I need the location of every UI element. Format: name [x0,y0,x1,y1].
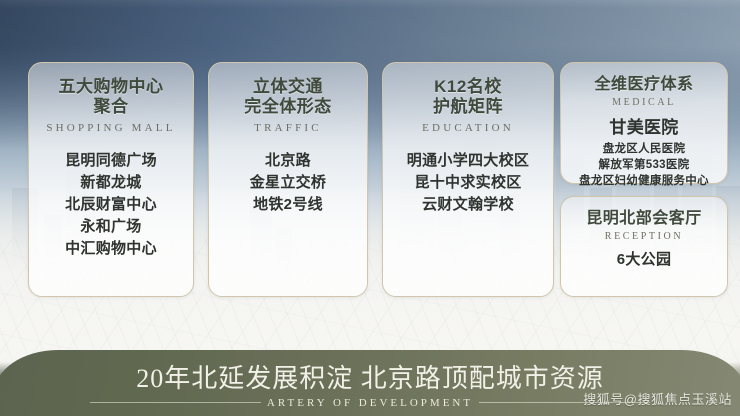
list-item: 中汇购物中心 [29,238,193,260]
card-reception-list: 6大公园 [561,249,727,271]
list-item: 盘龙区妇幼健康服务中心 [561,173,727,189]
card-medical-list: 甘美医院 盘龙区人民医院 解放军第533医院 盘龙区妇幼健康服务中心 [561,115,727,189]
list-item: 盘龙区人民医院 [561,141,727,157]
card-traffic-title-line2: 完全体形态 [209,97,367,117]
card-traffic-title-line1: 立体交通 [209,77,367,97]
watermark: 搜狐号@搜狐焦点玉溪站 [583,389,732,408]
card-education-title-line2: 护航矩阵 [383,97,553,117]
bottom-banner: 20年北延发展积淀 北京路顶配城市资源 ARTERY OF DEVELOPMEN… [0,350,740,416]
list-item: 6大公园 [561,249,727,271]
banner-rule-left [90,402,261,403]
banner-subtitle: ARTERY OF DEVELOPMENT [261,397,479,409]
card-medical-subtitle: MEDICAL [561,97,727,108]
banner-title: 20年北延发展积淀 北京路顶配城市资源 [136,364,604,394]
list-item: 永和广场 [29,216,193,238]
card-medical-title-line1: 全维医疗体系 [561,75,727,94]
card-reception-subtitle: RECEPTION [561,231,727,242]
card-shopping[interactable]: 五大购物中心 聚合 SHOPPING MALL 昆明同德广场 新都龙城 北辰财富… [28,62,194,297]
card-reception-title-line1: 昆明北部会客厅 [561,209,727,228]
feature-card-group: 五大购物中心 聚合 SHOPPING MALL 昆明同德广场 新都龙城 北辰财富… [0,0,740,340]
list-item: 地铁2号线 [209,194,367,216]
list-item: 北京路 [209,150,367,172]
poster-stage: 五大购物中心 聚合 SHOPPING MALL 昆明同德广场 新都龙城 北辰财富… [0,0,740,416]
card-shopping-list: 昆明同德广场 新都龙城 北辰财富中心 永和广场 中汇购物中心 [29,150,193,260]
card-shopping-title-line2: 聚合 [29,97,193,117]
banner-subtitle-row: ARTERY OF DEVELOPMENT [90,397,650,409]
card-traffic-subtitle: TRAFFIC [209,122,367,134]
card-shopping-subtitle: SHOPPING MALL [29,122,193,134]
card-traffic-list: 北京路 金星立交桥 地铁2号线 [209,150,367,216]
list-item: 云财文翰学校 [383,194,553,216]
list-item: 北辰财富中心 [29,194,193,216]
card-education-subtitle: EDUCATION [383,122,553,134]
card-medical-title: 全维医疗体系 [561,75,727,94]
card-reception[interactable]: 昆明北部会客厅 RECEPTION 6大公园 [560,196,728,297]
card-education-title-line1: K12名校 [383,77,553,97]
list-item: 昆明同德广场 [29,150,193,172]
card-education[interactable]: K12名校 护航矩阵 EDUCATION 明通小学四大校区 昆十中求实校区 云财… [382,62,554,297]
card-traffic[interactable]: 立体交通 完全体形态 TRAFFIC 北京路 金星立交桥 地铁2号线 [208,62,368,297]
card-shopping-title-line1: 五大购物中心 [29,77,193,97]
card-reception-title: 昆明北部会客厅 [561,209,727,228]
card-medical[interactable]: 全维医疗体系 MEDICAL 甘美医院 盘龙区人民医院 解放军第533医院 盘龙… [560,62,728,184]
card-education-title: K12名校 护航矩阵 [383,77,553,117]
card-medical-lead: 甘美医院 [561,115,727,140]
card-shopping-title: 五大购物中心 聚合 [29,77,193,117]
list-item: 解放军第533医院 [561,157,727,173]
card-education-list: 明通小学四大校区 昆十中求实校区 云财文翰学校 [383,150,553,216]
list-item: 昆十中求实校区 [383,172,553,194]
list-item: 新都龙城 [29,172,193,194]
list-item: 金星立交桥 [209,172,367,194]
card-traffic-title: 立体交通 完全体形态 [209,77,367,117]
list-item: 明通小学四大校区 [383,150,553,172]
